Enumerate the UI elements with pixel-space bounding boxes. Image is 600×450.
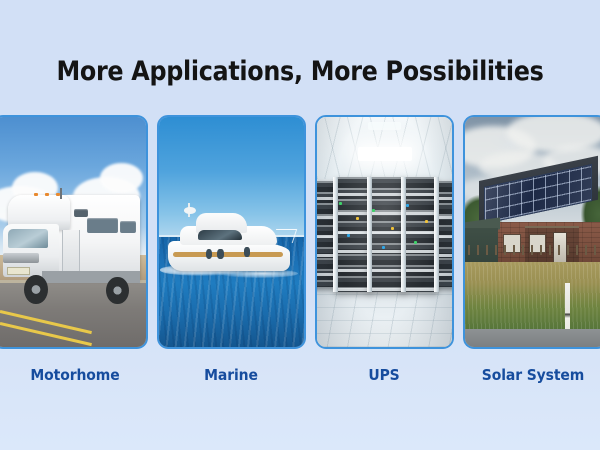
yacht-shape [168, 209, 296, 273]
motorhome-vehicle [0, 186, 140, 301]
solar-house-photo [465, 117, 600, 347]
application-labels-row: Motorhome Marine UPS Solar System [0, 366, 600, 390]
card-label-motorhome: Motorhome [0, 366, 150, 384]
motorhome-photo [0, 117, 146, 347]
ups-server-room-photo [317, 117, 452, 347]
card-label-marine: Marine [155, 366, 307, 384]
page-title: More Applications, More Possibilities [0, 56, 600, 87]
application-card-motorhome[interactable] [0, 115, 148, 349]
application-cards-row [0, 115, 600, 349]
application-showcase-banner: More Applications, More Possibilities [0, 0, 600, 450]
application-card-solar-system[interactable] [463, 115, 600, 349]
application-card-ups[interactable] [315, 115, 454, 349]
marine-yacht-photo [159, 117, 304, 347]
card-label-ups: UPS [312, 366, 456, 384]
card-label-solar-system: Solar System [460, 366, 600, 384]
application-card-marine[interactable] [157, 115, 306, 349]
